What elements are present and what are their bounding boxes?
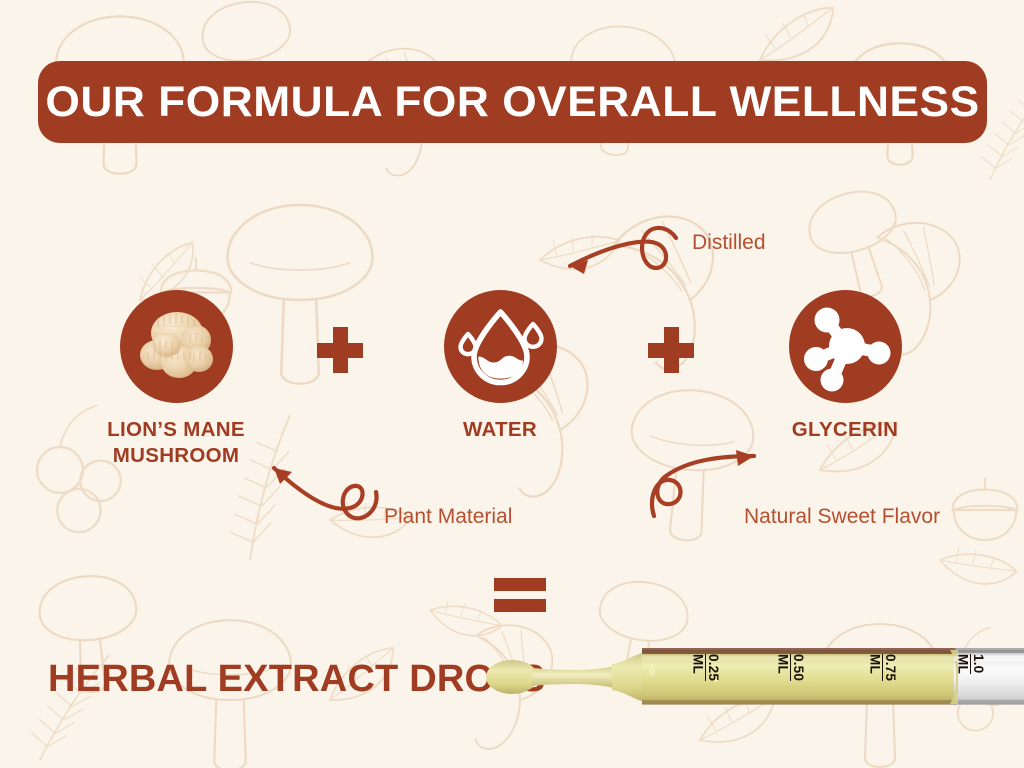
ingredient-glycerin: GLYCERIN: [725, 290, 965, 443]
plus-icon-1: [317, 327, 363, 373]
ingredient-lions-mane-mushroom: LION’S MANE MUSHROOM: [56, 290, 296, 469]
molecule-icon: [789, 290, 902, 403]
dropper-marking-1: 0.50 ML: [776, 654, 805, 681]
ingredient-label-line2: MUSHROOM: [113, 444, 240, 467]
ingredient-label-mushroom: LION’S MANE MUSHROOM: [56, 417, 296, 469]
distilled-arrow-icon: [548, 224, 698, 282]
water-icon-circle: [444, 290, 557, 403]
product-name: HERBAL EXTRACT DROPS: [48, 658, 545, 701]
annotation-natural-sweet-flavor: Natural Sweet Flavor: [744, 505, 940, 529]
equals-icon: [494, 578, 546, 612]
annotation-distilled: Distilled: [692, 231, 766, 255]
infographic-canvas: OUR FORMULA FOR OVERALL WELLNESS: [0, 0, 1024, 768]
page-title: OUR FORMULA FOR OVERALL WELLNESS: [45, 78, 979, 127]
dropper-pipette-illustration: 0.25 ML 0.50 ML 0.75 ML 1.0 ML: [484, 640, 1024, 712]
plus-icon-2: [648, 327, 694, 373]
dropper-marking-2: 0.75 ML: [868, 654, 897, 681]
annotation-plant-material: Plant Material: [384, 505, 512, 529]
mushroom-icon-circle: [120, 290, 233, 403]
ingredient-label-water: WATER: [390, 417, 610, 443]
ingredient-water: WATER: [390, 290, 610, 443]
dropper-marking-0: 0.25 ML: [691, 654, 720, 681]
dropper-marking-3: 1.0 ML: [956, 654, 985, 674]
lions-mane-mushroom-icon: [120, 290, 233, 403]
dropper-glass: [484, 640, 1024, 712]
equals-bar-top: [494, 578, 546, 591]
water-droplet-icon: [444, 290, 557, 403]
glycerin-icon-circle: [789, 290, 902, 403]
equals-bar-bottom: [494, 599, 546, 612]
ingredient-label-glycerin: GLYCERIN: [725, 417, 965, 443]
ingredient-label-line1: LION’S MANE: [107, 418, 245, 441]
header-banner: OUR FORMULA FOR OVERALL WELLNESS: [38, 61, 987, 143]
